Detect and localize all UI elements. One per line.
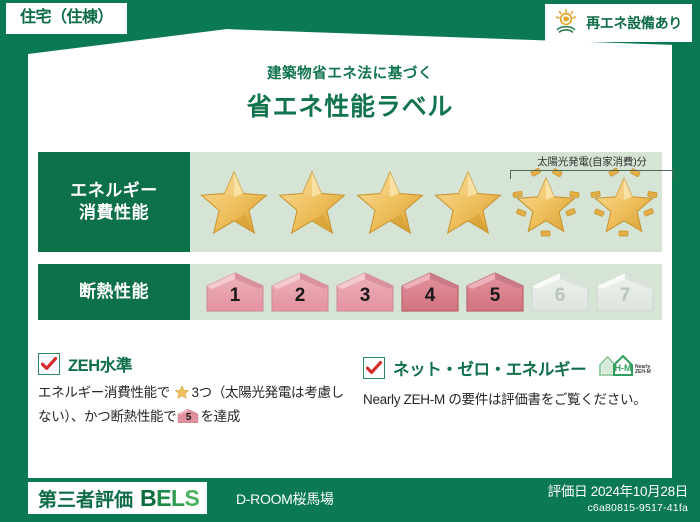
bels-letter-s: S: [185, 485, 200, 511]
insulation-level-number: 4: [399, 285, 461, 307]
solar-annotation: 太陽光発電(自家消費)分: [504, 154, 680, 179]
solar-annotation-text: 太陽光発電(自家消費)分: [504, 154, 680, 169]
insulation-level-marker: 1: [204, 270, 266, 314]
zeh-desc-part3: を達成: [200, 409, 240, 424]
zeh-standard-header: ZEH水準: [38, 352, 353, 376]
insulation-performance-row: 断熱性能: [38, 264, 662, 320]
renewable-energy-badge: 再エネ設備あり: [545, 4, 692, 42]
star-filled: [196, 164, 272, 240]
insulation-level-number: 5: [464, 285, 526, 307]
insulation-level-scale: 1 2 3: [190, 264, 662, 320]
bels-certification-mark: 第三者評価 BELS: [28, 482, 207, 514]
solar-sun-icon: [553, 8, 579, 39]
energy-rating-body: 太陽光発電(自家消費)分: [190, 152, 662, 252]
label-title: 省エネ性能ラベル: [0, 87, 700, 123]
zeh-standard-title: ZEH水準: [68, 352, 132, 376]
insulation-level-number: 3: [334, 285, 396, 307]
bels-letter-b: B: [140, 485, 156, 511]
svg-text:ZEH-M: ZEH-M: [635, 369, 651, 375]
housing-type-tab: 住宅（住棟）: [6, 3, 127, 34]
red-check-icon: [363, 357, 385, 379]
net-zero-energy-description: Nearly ZEH-M の要件は評価書をご覧ください。: [363, 390, 668, 411]
insulation-level-number: 7: [594, 285, 656, 307]
house-badge-number: 5: [177, 410, 199, 426]
energy-performance-label: 住宅（住棟） 再エネ設備あり 建築: [0, 0, 700, 522]
renewable-energy-label: 再エネ設備あり: [586, 13, 682, 33]
star-filled: [352, 164, 428, 240]
net-zero-energy-section: ネット・ゼロ・エネルギー H-M Nearly ZEH-M Nearly ZEH…: [353, 352, 668, 428]
zeh-desc-part1: エネルギー消費性能で: [38, 385, 170, 400]
zeh-standard-description: エネルギー消費性能で 3つ（太陽光発電は考慮しない）、かつ断熱性能で 5 を達成: [38, 383, 353, 428]
third-party-eval-label: 第三者評価: [38, 485, 133, 512]
energy-performance-label: エネルギー 消費性能: [38, 152, 190, 252]
net-zero-energy-title: ネット・ゼロ・エネルギー: [393, 356, 586, 380]
evaluation-info: 評価日 2024年10月28日 c6a80815-9517-41fa: [548, 480, 688, 514]
star-filled: [274, 164, 350, 240]
housing-type-label: 住宅（住棟）: [20, 9, 113, 26]
evaluation-date-value: 2024年10月28日: [591, 484, 688, 499]
star-icon: [174, 384, 190, 407]
insulation-level-marker-active: 5: [464, 270, 526, 314]
evaluation-id: c6a80815-9517-41fa: [548, 502, 688, 514]
title-block: 建築物省エネ法に基づく 省エネ性能ラベル: [0, 62, 700, 123]
nearly-zeh-m-logo: H-M Nearly ZEH-M: [598, 352, 654, 383]
house-badge-icon: 5: [177, 408, 199, 424]
label-subtitle: 建築物省エネ法に基づく: [0, 62, 700, 83]
energy-performance-row: エネルギー 消費性能 太陽光発電(自家消費)分: [38, 152, 662, 252]
evaluation-date-label: 評価日: [548, 484, 588, 499]
insulation-level-marker-inactive: 6: [529, 270, 591, 314]
building-name: D-ROOM桜馬場: [236, 489, 334, 509]
insulation-level-number: 2: [269, 285, 331, 307]
insulation-level-number: 6: [529, 285, 591, 307]
bels-letter-l: L: [171, 485, 185, 511]
star-filled: [430, 164, 506, 240]
insulation-level-marker: 2: [269, 270, 331, 314]
svg-text:H-M: H-M: [615, 363, 632, 373]
net-zero-energy-header: ネット・ゼロ・エネルギー H-M Nearly ZEH-M: [363, 352, 668, 383]
bels-letter-e: E: [156, 485, 171, 511]
zeh-standard-section: ZEH水準 エネルギー消費性能で 3つ（太陽光発電は考慮しない）、かつ断熱性能で…: [38, 352, 353, 428]
insulation-level-marker: 4: [399, 270, 461, 314]
insulation-performance-label: 断熱性能: [38, 264, 190, 320]
red-check-icon: [38, 353, 60, 375]
criteria-sections: ZEH水準 エネルギー消費性能で 3つ（太陽光発電は考慮しない）、かつ断熱性能で…: [38, 352, 668, 428]
evaluation-date: 評価日 2024年10月28日: [548, 480, 688, 500]
insulation-level-marker-inactive: 7: [594, 270, 656, 314]
insulation-rating-body: 1 2 3: [190, 264, 662, 320]
solar-bracket: [510, 170, 674, 179]
insulation-level-number: 1: [204, 285, 266, 307]
bels-logo: BELS: [140, 485, 199, 512]
insulation-level-marker: 3: [334, 270, 396, 314]
